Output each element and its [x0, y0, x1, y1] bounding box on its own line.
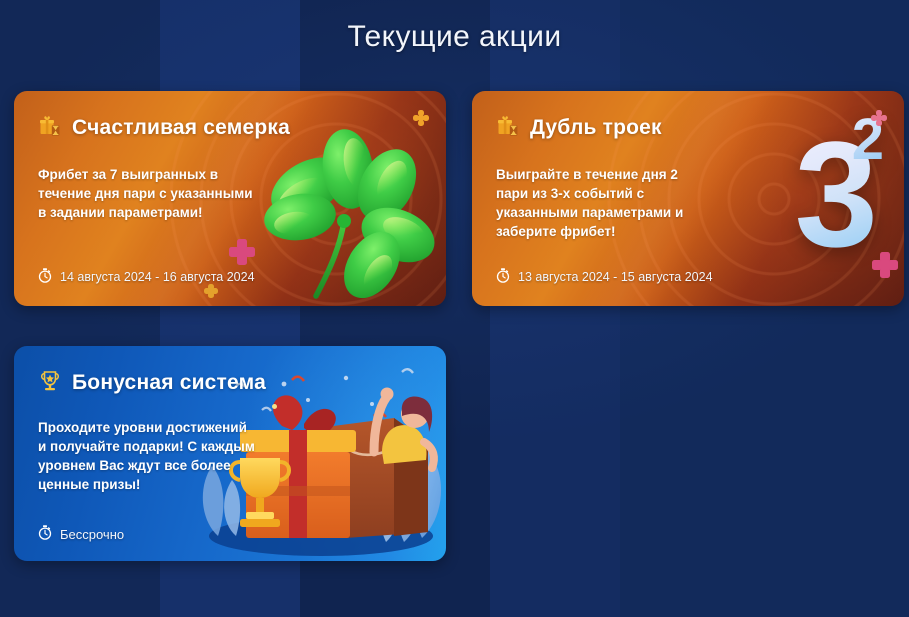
trophy-star-icon — [38, 369, 62, 398]
card-description: Фрибет за 7 выигранных в течение дня пар… — [38, 165, 253, 222]
card-content: Бонусная система Проходите уровни достиж… — [14, 346, 446, 561]
card-content: Дубль троек Выиграйте в течение дня 2 па… — [472, 91, 904, 306]
gift-hourglass-icon — [38, 114, 62, 143]
card-content: Счастливая семерка Фрибет за 7 выигранны… — [14, 91, 446, 306]
card-header: Дубль троек — [496, 113, 880, 143]
card-header: Бонусная система — [38, 368, 422, 398]
promo-card-lucky-seven[interactable]: Счастливая семерка Фрибет за 7 выигранны… — [14, 91, 446, 306]
card-title: Бонусная система — [72, 371, 266, 395]
promo-card-bonus-system[interactable]: Бонусная система Проходите уровни достиж… — [14, 346, 446, 561]
card-description: Выиграйте в течение дня 2 пари из 3-х со… — [496, 165, 711, 241]
promo-card-double-threes[interactable]: 3 2 — [472, 91, 904, 306]
card-title: Дубль троек — [530, 116, 662, 140]
card-header: Счастливая семерка — [38, 113, 422, 143]
page-title: Текущие акции — [0, 20, 909, 54]
gift-hourglass-icon — [496, 114, 520, 143]
card-title: Счастливая семерка — [72, 116, 290, 140]
card-description: Проходите уровни достижений и получайте … — [38, 418, 256, 494]
promotions-page: Текущие акции — [0, 0, 909, 617]
